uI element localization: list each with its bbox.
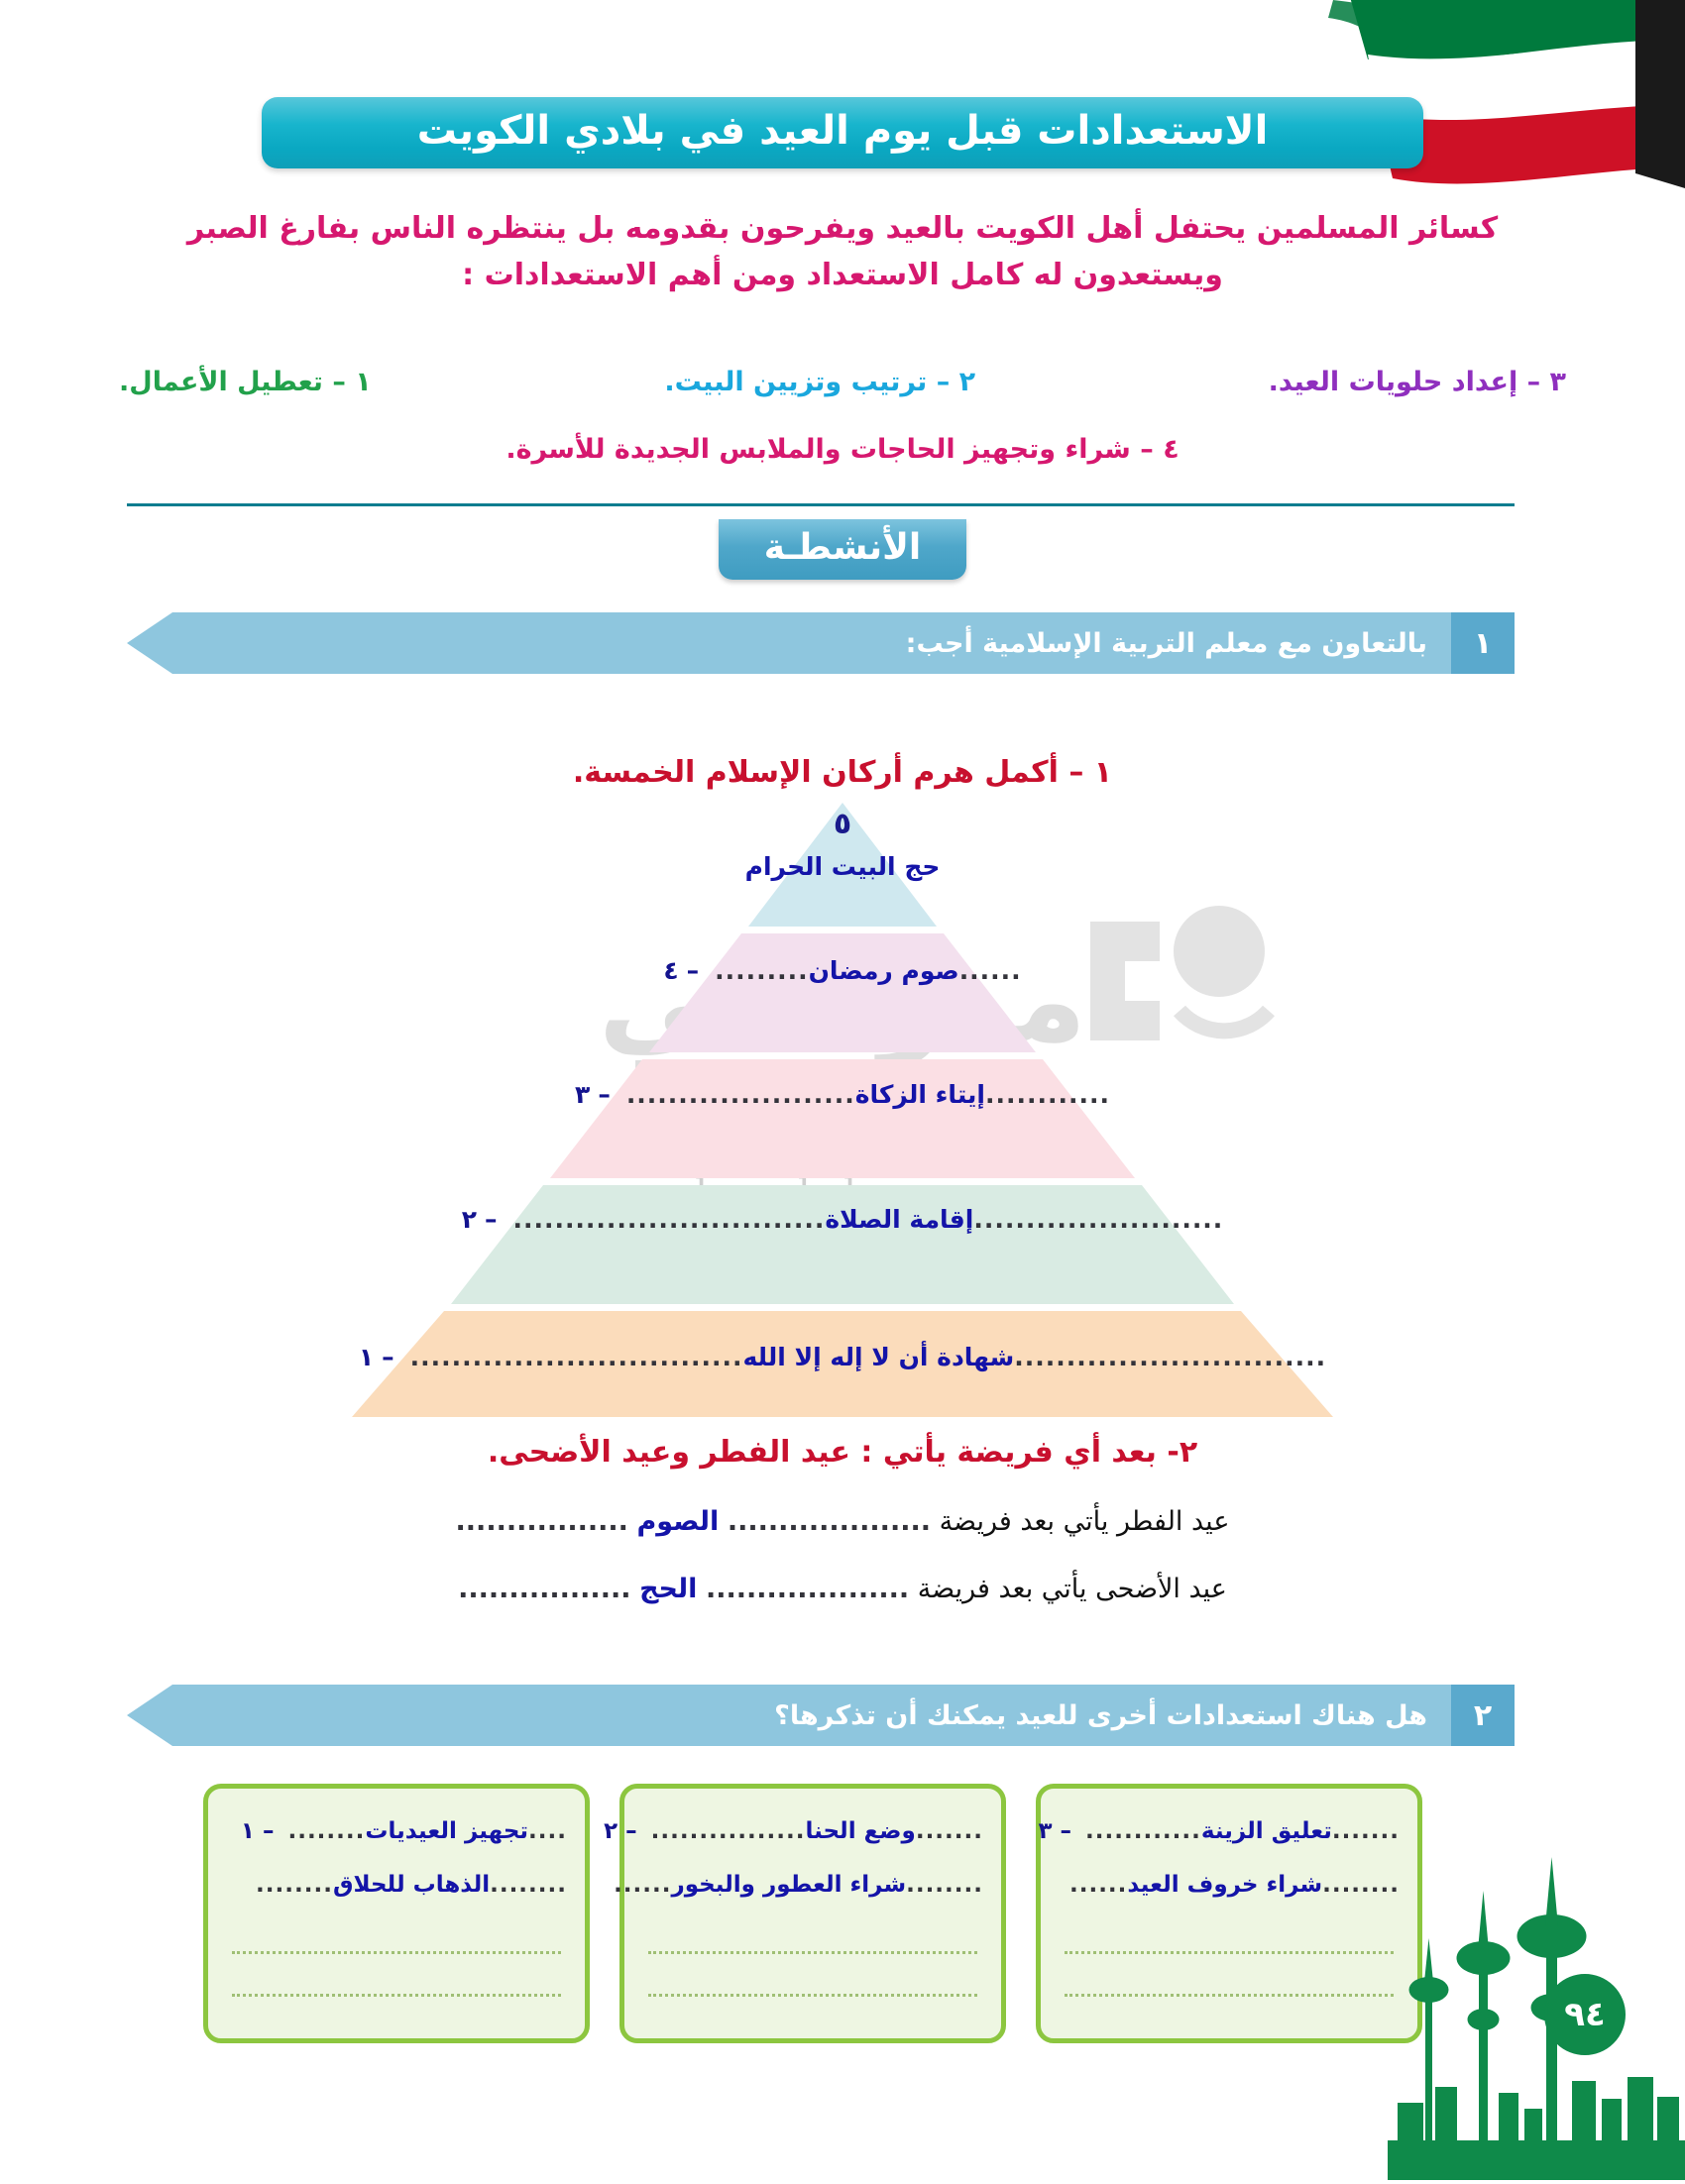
- preparation-4-dash: –: [1140, 434, 1154, 465]
- answer-box-2-line-2: ........ شراء العطور والبخور ......: [642, 1858, 983, 1911]
- pyramid-level-2-dots-left: ..............................: [512, 1205, 825, 1234]
- pyramid-level-2-dash: –: [485, 1205, 498, 1234]
- preparation-4-text: شراء وتجهيز الحاجات والملابس الجديدة للأ…: [505, 434, 1131, 465]
- box-3-blank-line-1: [1065, 1915, 1394, 1954]
- preparation-item-2: ٢ – ترتيب وتزيين البيت.: [664, 367, 975, 397]
- preparation-3-dash: –: [1527, 367, 1541, 397]
- pyramid-level-5-answer: حج البيت الحرام: [745, 852, 941, 881]
- intro-paragraph: كسائر المسلمين يحتفل أهل الكويت بالعيد و…: [119, 206, 1566, 298]
- activity-1-question-2: ٢- بعد أي فريضة يأتي : عيد الفطر وعيد ال…: [129, 1435, 1556, 1470]
- section-divider: [127, 503, 1515, 506]
- worksheet-page: الاستعدادات قبل يوم العيد في بلادي الكوي…: [0, 0, 1685, 2180]
- pyramid-level-2-dots-right: ........................: [973, 1205, 1223, 1234]
- activity-1-bar: ١ بالتعاون مع معلم التربية الإسلامية أجب…: [127, 612, 1515, 674]
- pyramid-level-1-number: ١: [359, 1343, 374, 1371]
- answer-box-1[interactable]: .... تجهيز العيديات ........ – ١ .......…: [203, 1784, 590, 2043]
- activity-1-heading: بالتعاون مع معلم التربية الإسلامية أجب:: [127, 612, 1451, 674]
- preparation-3-number: ٣: [1550, 367, 1566, 397]
- pyramid-level-3-answer: إيتاء الزكاة: [855, 1080, 985, 1109]
- box-2-line-2-dots-left: ......: [614, 1872, 671, 1898]
- box-1-line-1-dots-right: ....: [528, 1818, 567, 1844]
- box-1-line-1-dots-left: ........: [287, 1818, 365, 1844]
- preparation-item-1: ١ – تعطيل الأعمال.: [119, 367, 372, 397]
- activity-1-number: ١: [1451, 612, 1515, 674]
- box-1-dash: –: [263, 1818, 275, 1844]
- box-3-blank-line-2: [1065, 1958, 1394, 1997]
- box-2-dash: –: [625, 1818, 637, 1844]
- box-3-line-1-dots-right: .......: [1332, 1818, 1400, 1844]
- box-3-line-1-dots-left: ............: [1085, 1818, 1201, 1844]
- pyramid-level-4-dots-right: ......: [959, 956, 1022, 985]
- box-1-blank-line-1: [232, 1915, 561, 1954]
- page-title: الاستعدادات قبل يوم العيد في بلادي الكوي…: [262, 97, 1423, 168]
- activity-2-heading: هل هناك استعدادات أخرى للعيد يمكنك أن تذ…: [127, 1685, 1451, 1746]
- box-2-line-1-dots-right: .......: [916, 1818, 983, 1844]
- preparation-2-text: ترتيب وتزيين البيت.: [664, 367, 927, 397]
- box-2-line-1-dots-left: ................: [651, 1818, 806, 1844]
- pyramid-level-3-dash: –: [598, 1080, 611, 1109]
- box-1-number: ١: [241, 1818, 255, 1844]
- preparation-4-number: ٤: [1163, 434, 1179, 465]
- box-2-blank-line-2: [648, 1958, 977, 1997]
- activity-2-bar: ٢ هل هناك استعدادات أخرى للعيد يمكنك أن …: [127, 1685, 1515, 1746]
- box-2-blank-line-1: [648, 1915, 977, 1954]
- kuwait-towers-skyline-decoration: [1388, 1843, 1685, 2180]
- pyramid-level-2-answer: إقامة الصلاة: [825, 1205, 973, 1234]
- preparation-1-text: تعطيل الأعمال.: [119, 367, 323, 397]
- preparation-item-4: ٤ – شراء وتجهيز الحاجات والملابس الجديدة…: [119, 434, 1566, 465]
- pyramid-level-4-dash: –: [687, 956, 700, 985]
- pyramid-level-1-dash: –: [382, 1343, 394, 1371]
- preparation-3-text: إعداد حلويات العيد.: [1269, 367, 1518, 397]
- pyramid-level-3-dots-right: ............: [985, 1080, 1110, 1109]
- box-3-line-2-answer: شراء خروف العيد: [1127, 1872, 1322, 1898]
- box-3-dash: –: [1061, 1818, 1072, 1844]
- preparation-1-dash: –: [332, 367, 346, 397]
- pyramid-shape: [0, 793, 1685, 1427]
- pyramid-level-2-row: ........................ إقامة الصلاة ..…: [0, 1205, 1685, 1234]
- pyramid-level-1-dots-right: ..............................: [1014, 1343, 1326, 1371]
- box-3-number: ٣: [1038, 1818, 1052, 1844]
- box-1-line-2-dots-left: ........: [256, 1872, 333, 1898]
- activities-tab-container: الأنشطـة: [0, 519, 1685, 580]
- answer-box-3-line-1: ....... تعليق الزينة ............ – ٣: [1059, 1804, 1400, 1858]
- preparation-2-dash: –: [937, 367, 951, 397]
- pyramid-level-3-dots-left: ......................: [626, 1080, 855, 1109]
- preparation-1-number: ١: [355, 367, 371, 397]
- pyramid-level-4-row: ...... صوم رمضان ......... – ٤: [0, 956, 1685, 985]
- pyramid-level-3-number: ٣: [575, 1080, 590, 1109]
- islam-pillars-pyramid: ٥ حج البيت الحرام ...... صوم رمضان .....…: [0, 793, 1685, 1427]
- box-2-line-2-answer: شراء العطور والبخور: [672, 1872, 907, 1898]
- box-2-line-2-dots-right: ........: [906, 1872, 983, 1898]
- answer-box-2-line-1: ....... وضع الحنا ................ – ٢: [642, 1804, 983, 1858]
- activity-1-question-1: ١ – أكمل هرم أركان الإسلام الخمسة.: [129, 755, 1556, 790]
- answer-2-dots-right: ....................: [706, 1574, 909, 1604]
- pyramid-level-1-row: .............................. شهادة أن …: [0, 1343, 1685, 1371]
- pyramid-level-2-number: ٢: [462, 1205, 477, 1234]
- pyramid-level-1-answer: شهادة أن لا إله إلا الله: [743, 1343, 1015, 1371]
- preparation-2-number: ٢: [959, 367, 975, 397]
- box-1-blank-line-2: [232, 1958, 561, 1997]
- answer-box-3[interactable]: ....... تعليق الزينة ............ – ٣ ..…: [1036, 1784, 1422, 2043]
- activity-2-answer-boxes: .... تجهيز العيديات ........ – ١ .......…: [203, 1784, 1422, 2051]
- page-title-container: الاستعدادات قبل يوم العيد في بلادي الكوي…: [0, 97, 1685, 168]
- pyramid-level-1-dots-left: ................................: [410, 1343, 743, 1371]
- answer-2-prompt: عيد الأضحى يأتي بعد فريضة: [918, 1574, 1227, 1604]
- pyramid-level-5-row: حج البيت الحرام: [0, 852, 1685, 881]
- page-number: ٩٤: [1544, 1974, 1626, 2055]
- box-3-line-2-dots-left: ......: [1069, 1872, 1127, 1898]
- activity-2-number: ٢: [1451, 1685, 1515, 1746]
- intro-line-1: كسائر المسلمين يحتفل أهل الكويت بالعيد و…: [119, 206, 1566, 253]
- pyramid-level-4-dots-left: .........: [715, 956, 808, 985]
- intro-line-2: ويستعدون له كامل الاستعداد ومن أهم الاست…: [119, 253, 1566, 299]
- answer-box-3-line-2: ........ شراء خروف العيد ......: [1059, 1858, 1400, 1911]
- answer-box-1-line-2: ........ الذهاب للحلاق ........: [226, 1858, 567, 1911]
- activities-tab-label: الأنشطـة: [719, 519, 967, 580]
- box-3-line-1-answer: تعليق الزينة: [1201, 1818, 1332, 1844]
- preparation-item-3: ٣ – إعداد حلويات العيد.: [1269, 367, 1566, 397]
- answer-1-dots-right: ....................: [728, 1506, 931, 1537]
- answer-1-dots-left: .................: [456, 1506, 628, 1537]
- preparations-list: ١ – تعطيل الأعمال. ٢ – ترتيب وتزيين البي…: [119, 367, 1566, 397]
- pyramid-level-3-row: ............ إيتاء الزكاة ..............…: [0, 1080, 1685, 1109]
- answer-2-value: الحج: [639, 1574, 697, 1604]
- pyramid-level-4-number: ٤: [663, 956, 678, 985]
- box-1-line-1-answer: تجهيز العيديات: [365, 1818, 528, 1844]
- box-1-line-2-dots-right: ........: [490, 1872, 567, 1898]
- box-1-line-2-answer: الذهاب للحلاق: [333, 1872, 490, 1898]
- answer-1-prompt: عيد الفطر يأتي بعد فريضة: [940, 1506, 1230, 1537]
- box-2-line-1-answer: وضع الحنا: [805, 1818, 915, 1844]
- answer-box-2[interactable]: ....... وضع الحنا ................ – ٢ .…: [619, 1784, 1006, 2043]
- box-2-number: ٢: [604, 1818, 618, 1844]
- answer-2-dots-left: .................: [458, 1574, 630, 1604]
- answer-box-1-line-1: .... تجهيز العيديات ........ – ١: [226, 1804, 567, 1858]
- activity-1-answer-line-1: عيد الفطر يأتي بعد فريضة ...............…: [129, 1506, 1556, 1537]
- pyramid-level-5-number: ٥: [0, 807, 1685, 841]
- answer-1-value: الصوم: [637, 1506, 720, 1537]
- activity-1-answer-line-2: عيد الأضحى يأتي بعد فريضة ..............…: [129, 1574, 1556, 1604]
- pyramid-level-4-answer: صوم رمضان: [809, 956, 959, 985]
